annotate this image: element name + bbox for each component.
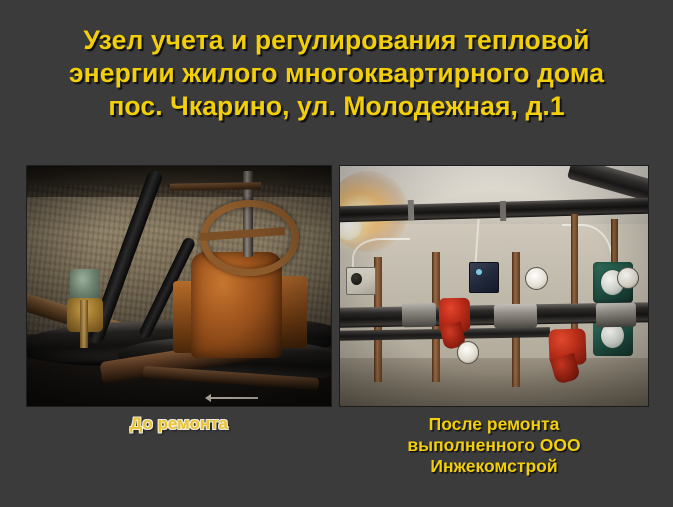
- photo-vignette-left: [27, 166, 331, 406]
- slide-root: Узел учета и регулирования тепловой энер…: [0, 0, 673, 507]
- photo-vignette-right: [340, 166, 648, 406]
- after-repair-photo[interactable]: [340, 166, 648, 406]
- caption-before-repair: До ремонта: [27, 414, 331, 434]
- page-title: Узел учета и регулирования тепловой энер…: [18, 24, 655, 123]
- before-repair-photo[interactable]: [27, 166, 331, 406]
- caption-after-repair: После ремонта выполненного ООО Инжекомст…: [340, 414, 648, 477]
